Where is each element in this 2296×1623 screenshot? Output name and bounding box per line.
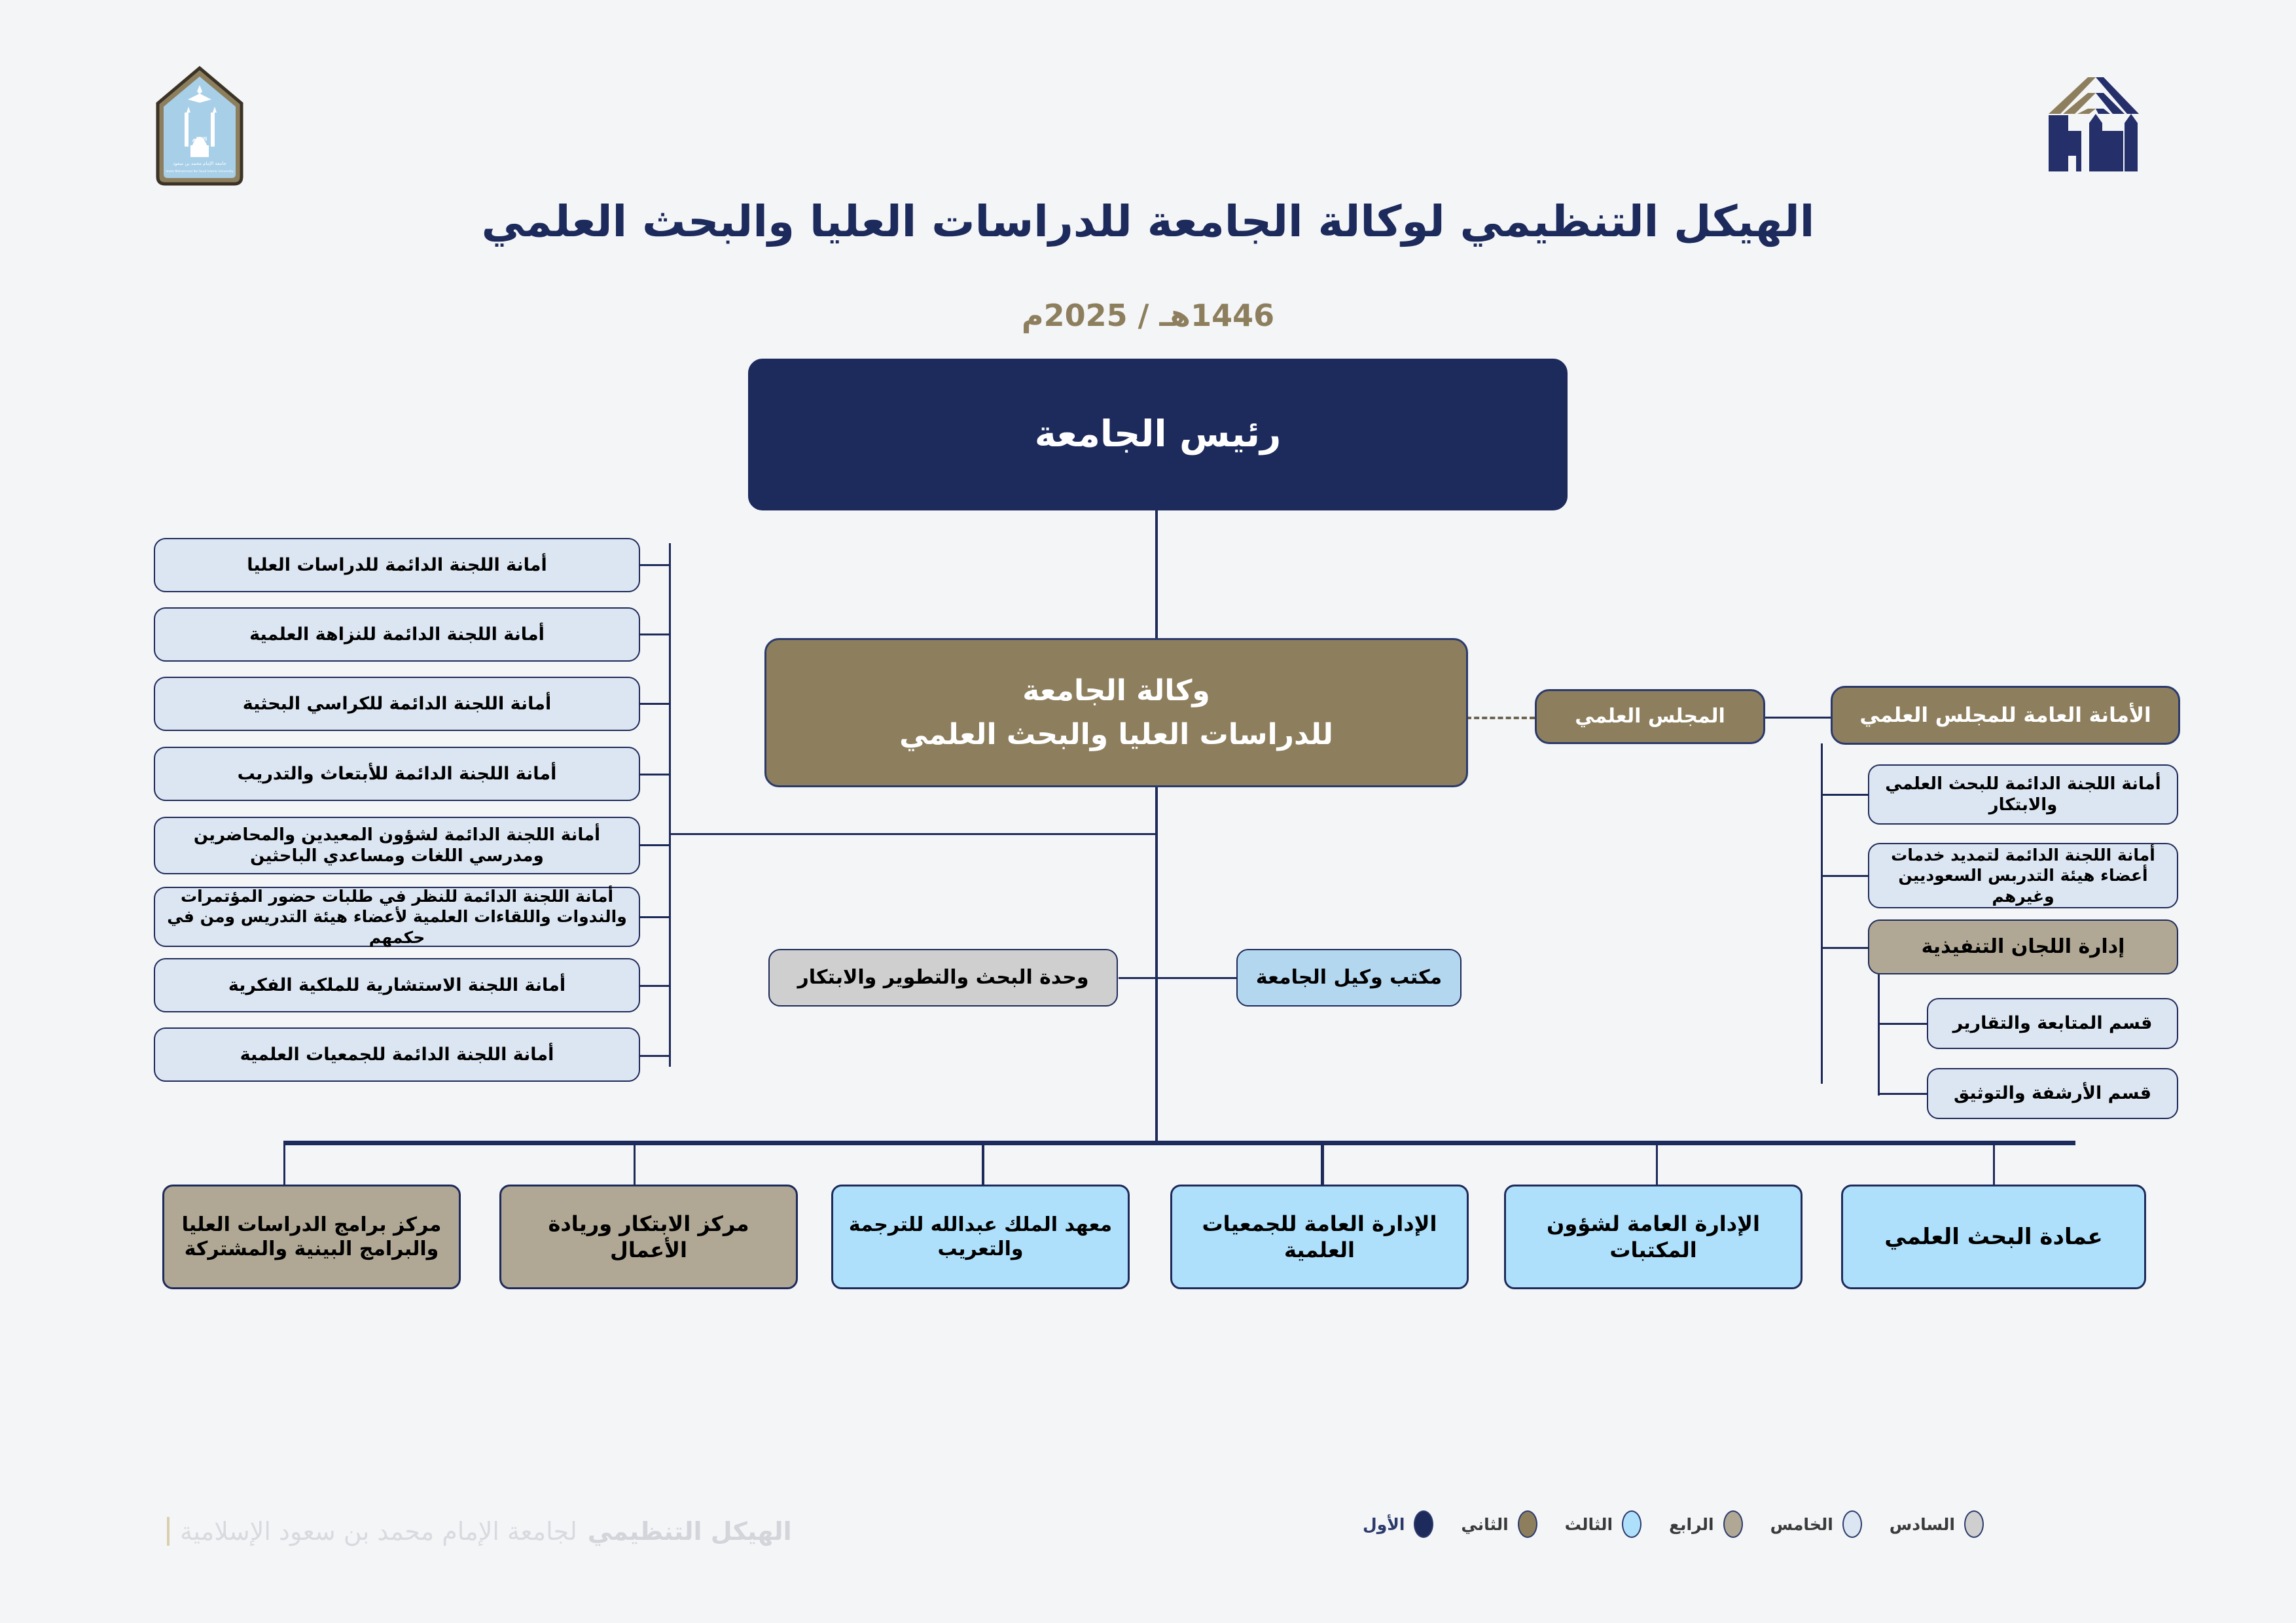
node-bottom-unit-6[interactable]: مركز برامج الدراسات العليا والبرامج البي… bbox=[162, 1185, 461, 1289]
connector-stub-council-3 bbox=[1821, 947, 1868, 949]
connector-executive-trunk bbox=[1878, 974, 1880, 1096]
legend-item-5: الخامس bbox=[1770, 1510, 1862, 1538]
connector-stub-left-7 bbox=[640, 985, 671, 987]
connector-council-to-secretariat bbox=[1765, 717, 1831, 719]
node-bottom-unit-5[interactable]: مركز الابتكار وريادة الأعمال bbox=[499, 1185, 798, 1289]
connector-president-to-vp bbox=[1155, 510, 1158, 638]
node-left-committee-3[interactable]: أمانة اللجنة الدائمة للكراسي البحثية bbox=[154, 677, 640, 731]
legend-item-2: الثاني bbox=[1461, 1510, 1537, 1538]
connector-stub-left-3 bbox=[640, 703, 671, 705]
connector-stub-left-5 bbox=[640, 844, 671, 846]
committee-extend-services-label: أمانة اللجنة الدائمة لتمديد خدمات أعضاء … bbox=[1878, 845, 2168, 906]
node-left-committee-6[interactable]: أمانة اللجنة الدائمة للنظر في طلبات حضور… bbox=[154, 887, 640, 947]
footer-title-strong: الهيكل التنظيمي bbox=[588, 1517, 792, 1546]
legend-label-2: الثاني bbox=[1461, 1515, 1508, 1534]
legend-label-6: السادس bbox=[1890, 1515, 1955, 1534]
connector-stub-council-2 bbox=[1821, 875, 1868, 877]
imam-university-seal-icon: الإمام جامعة الإمام محمد بن سعود Imam Mo… bbox=[154, 65, 245, 187]
node-research-development-unit[interactable]: وحدة البحث والتطوير والابتكار bbox=[768, 949, 1118, 1007]
legend-label-1: الأول bbox=[1363, 1515, 1405, 1534]
node-archiving-documentation-dept[interactable]: قسم الأرشفة والتوثيق bbox=[1927, 1068, 2178, 1119]
footer-title-rest: لجامعة الإمام محمد بن سعود الإسلامية bbox=[180, 1517, 577, 1546]
connector-stub-left-2 bbox=[640, 633, 671, 635]
node-bottom-unit-4[interactable]: معهد الملك عبدالله للترجمة والتعريب bbox=[831, 1185, 1130, 1289]
connector-left-trunk-to-spine bbox=[669, 833, 1157, 835]
node-scientific-council[interactable]: المجلس العلمي bbox=[1535, 689, 1765, 744]
connector-stub-exec-1 bbox=[1878, 1023, 1927, 1025]
page-subtitle-year: 1446هـ / 2025م bbox=[0, 298, 2296, 333]
legend-dot-2 bbox=[1518, 1510, 1537, 1538]
node-bottom-unit-2[interactable]: الإدارة العامة لشؤون المكتبات bbox=[1504, 1185, 1803, 1289]
footer: الهيكل التنظيمي لجامعة الإمام محمد بن سع… bbox=[167, 1517, 792, 1546]
svg-text:جامعة الإمام محمد بن سعود: جامعة الإمام محمد بن سعود bbox=[173, 161, 226, 166]
svg-text:الإمام: الإمام bbox=[192, 136, 207, 142]
connector-drop-2 bbox=[1656, 1141, 1658, 1190]
legend-dot-3 bbox=[1622, 1510, 1641, 1538]
committee-research-innovation-label: أمانة اللجنة الدائمة للبحث العلمي والابت… bbox=[1878, 774, 2168, 816]
node-left-committee-8[interactable]: أمانة اللجنة الدائمة للجمعيات العلمية bbox=[154, 1027, 640, 1082]
node-left-committee-1[interactable]: أمانة اللجنة الدائمة للدراسات العليا bbox=[154, 538, 640, 592]
node-left-committee-7[interactable]: أمانة اللجنة الاستشارية للملكية الفكرية bbox=[154, 958, 640, 1012]
connector-drop-1 bbox=[1993, 1141, 1995, 1190]
legend-dot-5 bbox=[1842, 1510, 1862, 1538]
connector-stub-left-1 bbox=[640, 564, 671, 566]
legend-item-6: السادس bbox=[1890, 1510, 1984, 1538]
legend-item-1: الأول bbox=[1363, 1510, 1433, 1538]
node-bottom-unit-3[interactable]: الإدارة العامة للجمعيات العلمية bbox=[1170, 1185, 1469, 1289]
connector-drop-4 bbox=[982, 1141, 984, 1190]
node-left-committee-4[interactable]: أمانة اللجنة الدائمة للأبتعاث والتدريب bbox=[154, 747, 640, 801]
footer-divider bbox=[167, 1517, 170, 1546]
node-left-committee-2[interactable]: أمانة اللجنة الدائمة للنزاهة العلمية bbox=[154, 607, 640, 662]
executive-committees-admin-label: إدارة اللجان التنفيذية bbox=[1922, 935, 2125, 959]
legend-label-3: الثالث bbox=[1565, 1515, 1613, 1534]
node-vice-presidency[interactable]: وكالة الجامعة للدراسات العليا والبحث الع… bbox=[764, 638, 1468, 787]
connector-vp-spine bbox=[1155, 787, 1158, 1141]
legend-item-3: الثالث bbox=[1565, 1510, 1641, 1538]
page-title: الهيكل التنظيمي لوكالة الجامعة للدراسات … bbox=[0, 196, 2296, 247]
node-left-committee-5[interactable]: أمانة اللجنة الدائمة لشؤون المعيدين والم… bbox=[154, 817, 640, 874]
connector-stub-left-6 bbox=[640, 916, 671, 918]
node-bottom-unit-1[interactable]: عمادة البحث العلمي bbox=[1841, 1185, 2146, 1289]
node-committee-extend-services[interactable]: أمانة اللجنة الدائمة لتمديد خدمات أعضاء … bbox=[1868, 843, 2178, 908]
legend-item-4: الرابع bbox=[1669, 1510, 1743, 1538]
node-executive-committees-admin[interactable]: إدارة اللجان التنفيذية bbox=[1868, 919, 2178, 974]
legend-dot-4 bbox=[1723, 1510, 1743, 1538]
legend-label-5: الخامس bbox=[1770, 1515, 1833, 1534]
connector-stub-exec-2 bbox=[1878, 1093, 1927, 1095]
vp-line-1: وكالة الجامعة bbox=[1022, 673, 1210, 709]
connector-office-to-rnd bbox=[1119, 977, 1236, 979]
legend-dot-6 bbox=[1964, 1510, 1984, 1538]
node-council-general-secretariat[interactable]: الأمانة العامة للمجلس العلمي bbox=[1831, 686, 2180, 745]
node-followup-reports-dept[interactable]: قسم المتابعة والتقارير bbox=[1927, 998, 2178, 1049]
legend-dot-1 bbox=[1414, 1510, 1433, 1538]
node-president[interactable]: رئيس الجامعة bbox=[748, 359, 1568, 510]
legend-label-4: الرابع bbox=[1669, 1515, 1714, 1534]
connector-drop-3 bbox=[1321, 1141, 1324, 1190]
connector-vp-to-council-dashed bbox=[1466, 717, 1535, 719]
svg-text:Imam Mohammad Ibn Saud Islamic: Imam Mohammad Ibn Saud Islamic Universit… bbox=[166, 169, 234, 173]
vp-line-2: للدراسات العليا والبحث العلمي bbox=[899, 717, 1333, 753]
connector-bottom-bus bbox=[283, 1141, 2075, 1145]
node-vice-president-office[interactable]: مكتب وكيل الجامعة bbox=[1236, 949, 1462, 1007]
legend: الأول الثاني الثالث الرابع الخامس السادس bbox=[1335, 1510, 1984, 1538]
connector-stub-left-8 bbox=[640, 1055, 671, 1057]
imam-wordmark-logo-icon bbox=[2041, 59, 2152, 183]
connector-stub-left-4 bbox=[640, 774, 671, 776]
node-committee-research-innovation[interactable]: أمانة اللجنة الدائمة للبحث العلمي والابت… bbox=[1868, 764, 2178, 825]
connector-stub-council-1 bbox=[1821, 794, 1868, 796]
connector-left-committees-trunk bbox=[669, 543, 671, 1067]
